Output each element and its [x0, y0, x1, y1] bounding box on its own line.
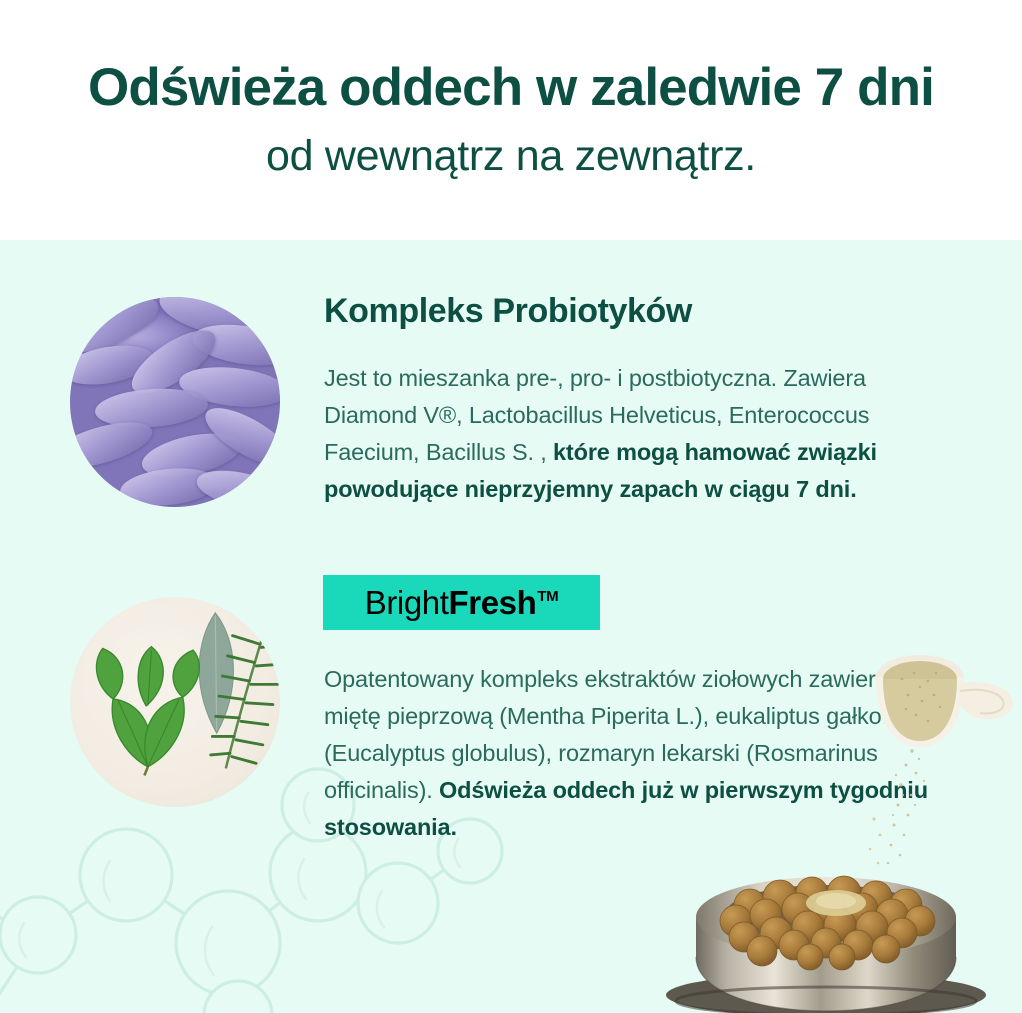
header-section: Odświeża oddech w zaledwie 7 dni od wewn… — [0, 0, 1022, 240]
brightfresh-light-part: Bright — [365, 586, 449, 619]
section-body-brightfresh: Opatentowany kompleks ekstraktów ziołowy… — [324, 661, 944, 846]
page-subtitle: od wewnątrz na zewnątrz. — [0, 132, 1022, 181]
trademark-symbol: TM — [537, 589, 558, 604]
brightfresh-badge: BrightFreshTM — [323, 575, 600, 630]
section-title-probiotics: Kompleks Probiotyków — [324, 291, 692, 332]
page-title: Odświeża oddech w zaledwie 7 dni — [0, 58, 1022, 117]
herbs-image — [70, 597, 280, 807]
mint-leaves-icon — [87, 643, 209, 777]
rosemary-sprig-icon — [204, 605, 280, 777]
infographic-root: Odświeża oddech w zaledwie 7 dni od wewn… — [0, 0, 1022, 1013]
bacteria-micrograph-image — [70, 297, 280, 507]
brightfresh-bold-part: Fresh — [449, 586, 537, 619]
section-body-probiotics: Jest to mieszanka pre-, pro- i postbioty… — [324, 360, 924, 508]
brightfresh-wordmark: BrightFreshTM — [365, 586, 559, 619]
